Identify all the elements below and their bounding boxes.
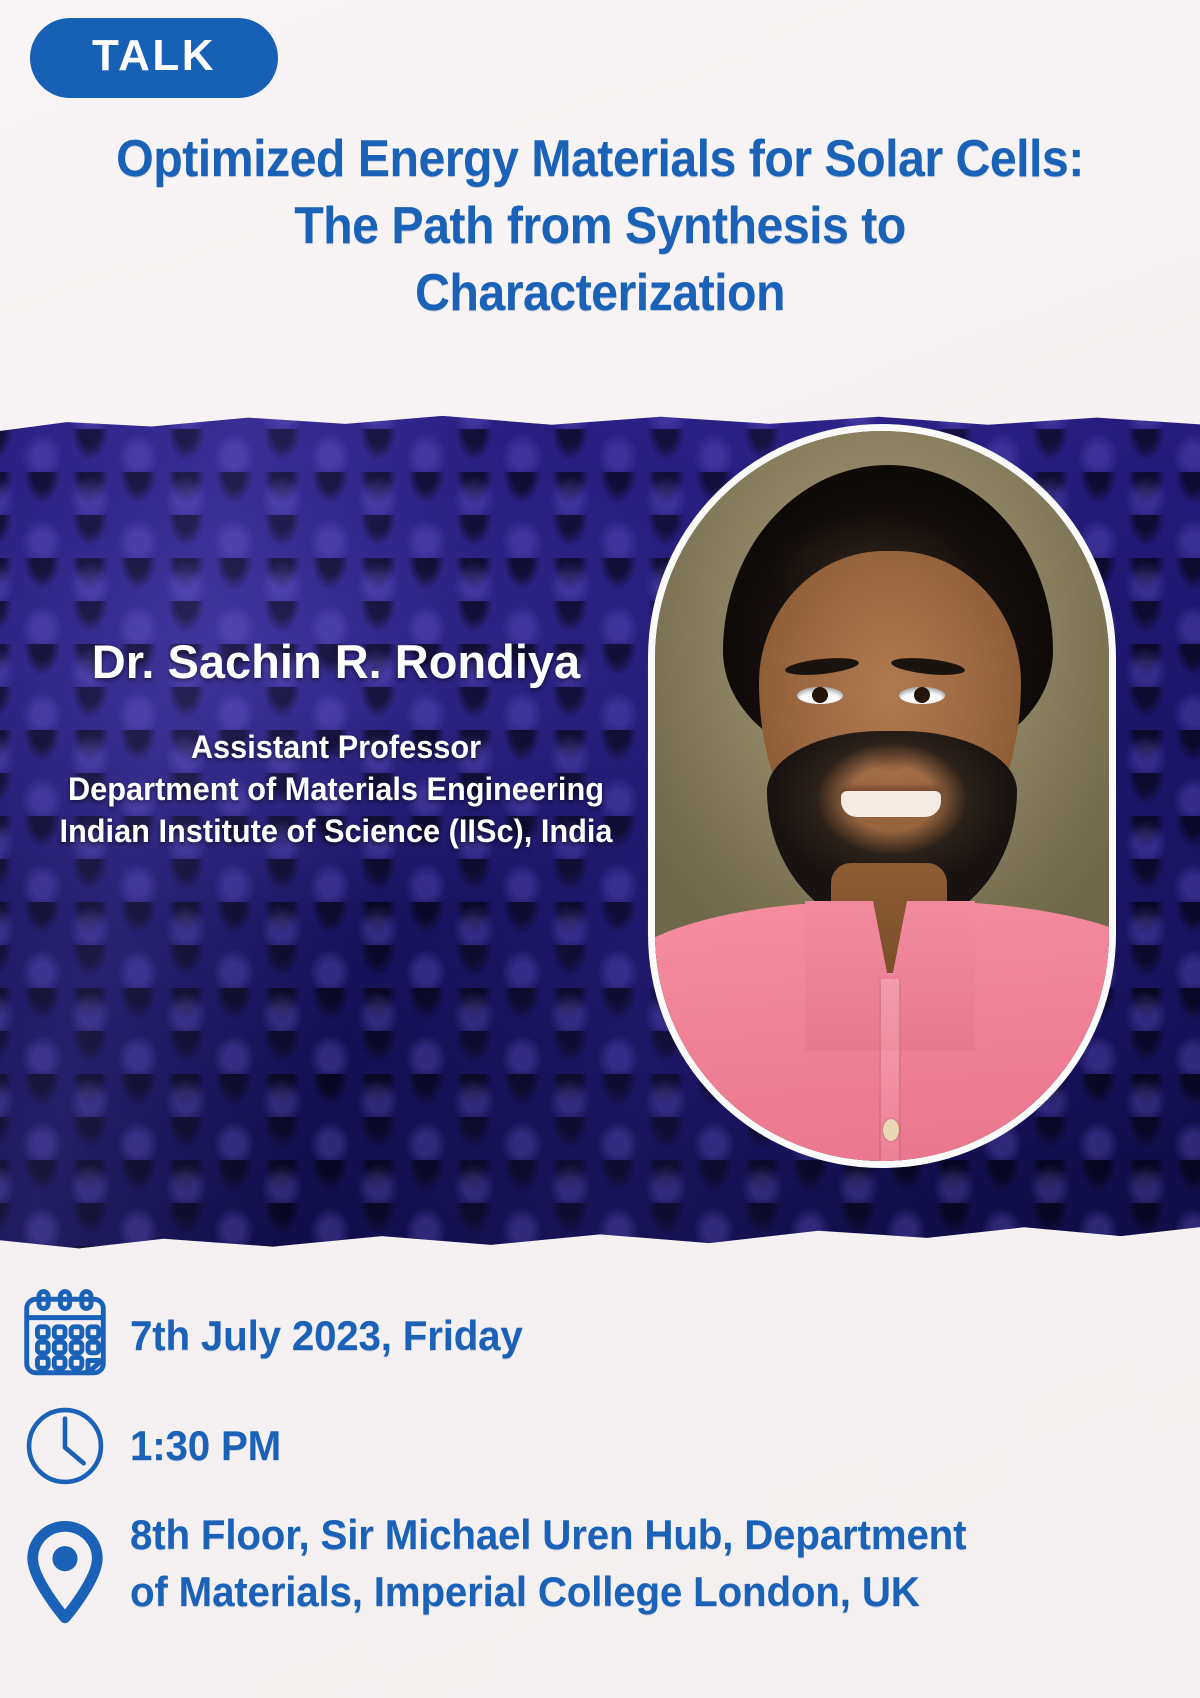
- title-line-2: The Path from Synthesis to: [42, 193, 1158, 260]
- detail-row-location: 8th Floor, Sir Michael Uren Hub, Departm…: [0, 1506, 1200, 1634]
- event-date-text: 7th July 2023, Friday: [130, 1307, 523, 1364]
- speaker-portrait: [648, 424, 1116, 1168]
- detail-row-time: 1:30 PM: [0, 1398, 1200, 1494]
- event-details: 7th July 2023, Friday 1:30 PM 8th Floor: [0, 1286, 1200, 1646]
- speaker-role: Assistant Professor: [13, 726, 658, 768]
- page-title: Optimized Energy Materials for Solar Cel…: [42, 126, 1158, 327]
- speaker-block: Dr. Sachin R. Rondiya Assistant Professo…: [0, 636, 672, 852]
- talk-badge: TALK: [30, 18, 278, 98]
- calendar-icon: [0, 1286, 130, 1386]
- portrait-button: [883, 1119, 899, 1141]
- portrait-smile: [841, 791, 941, 817]
- speaker-affiliation: Assistant Professor Department of Materi…: [13, 726, 658, 853]
- event-location-text: 8th Floor, Sir Michael Uren Hub, Departm…: [130, 1506, 966, 1620]
- badge-row: TALK: [30, 18, 278, 98]
- event-time-text: 1:30 PM: [130, 1417, 281, 1474]
- title-line-1: Optimized Energy Materials for Solar Cel…: [42, 126, 1158, 193]
- speaker-institution: Indian Institute of Science (IISc), Indi…: [13, 810, 658, 852]
- detail-row-date: 7th July 2023, Friday: [0, 1286, 1200, 1386]
- speaker-name: Dr. Sachin R. Rondiya: [0, 636, 672, 688]
- speaker-department: Department of Materials Engineering: [13, 768, 658, 810]
- portrait-pupil-left: [812, 687, 828, 703]
- portrait-pupil-right: [914, 687, 930, 703]
- title-line-3: Characterization: [42, 260, 1158, 327]
- event-location-line-1: 8th Floor, Sir Michael Uren Hub, Departm…: [130, 1506, 966, 1563]
- talk-poster: TALK Optimized Energy Materials for Sola…: [0, 0, 1200, 1698]
- clock-icon: [0, 1398, 130, 1494]
- location-pin-icon: [0, 1506, 130, 1634]
- event-location-line-2: of Materials, Imperial College London, U…: [130, 1563, 966, 1620]
